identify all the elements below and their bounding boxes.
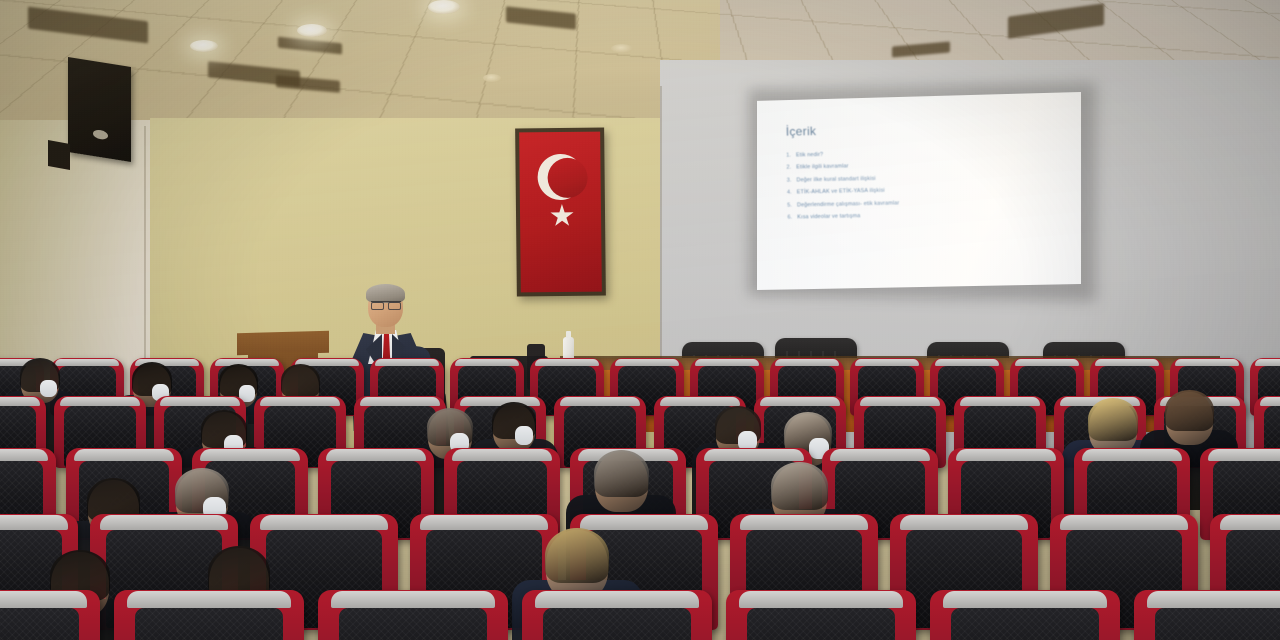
seat-cushion — [339, 608, 487, 640]
auditorium-seat — [1134, 590, 1280, 640]
seat-trim — [760, 397, 839, 406]
conference-hall-photo: İçerik 1.Etik nedir? 2.Etikle ilgili kav… — [0, 0, 1280, 640]
seat-trim — [660, 397, 739, 406]
seat-trim — [100, 515, 227, 530]
seat-trim — [704, 449, 804, 461]
audience-member-hair — [1088, 398, 1138, 441]
slide-item-text: Etik nedir? — [796, 152, 823, 159]
seat-trim — [1255, 359, 1280, 367]
seat-cushion — [135, 608, 283, 640]
seat-trim — [775, 359, 839, 367]
seat-trim — [900, 515, 1027, 530]
slide-item-text: Etikle ilgili kavramlar — [796, 164, 848, 171]
audience-member-hair — [1165, 390, 1214, 431]
slide-title: İçerik — [786, 119, 1080, 139]
seat-trim — [0, 397, 40, 406]
seat-trim — [830, 449, 930, 461]
turkish-flag-frame — [515, 128, 606, 297]
seat-trim — [1260, 397, 1280, 406]
seat-trim — [74, 449, 174, 461]
seat-trim — [420, 515, 547, 530]
ceiling-light-1 — [190, 40, 218, 52]
seat-trim — [740, 515, 867, 530]
slide-item-number: 6. — [787, 215, 792, 221]
auditorium-seat — [930, 590, 1120, 640]
seat-cushion — [951, 608, 1099, 640]
seat-trim — [0, 449, 48, 461]
slide-list-item: 4.ETİK-AHLAK ve ETİK-YASA ilişkisi — [787, 184, 1081, 196]
seat-trim — [956, 449, 1056, 461]
seat-trim — [860, 397, 939, 406]
seat-trim — [1015, 359, 1079, 367]
auditorium-seat — [318, 590, 508, 640]
seat-trim — [695, 359, 759, 367]
seat-cushion — [543, 608, 691, 640]
seat-cushion — [1155, 608, 1280, 640]
seat-trim — [739, 591, 902, 608]
seat-trim — [1208, 449, 1280, 461]
seat-trim — [535, 591, 698, 608]
seat-trim — [560, 397, 639, 406]
seat-trim — [1095, 359, 1159, 367]
seat-trim — [360, 397, 439, 406]
seat-trim — [960, 397, 1039, 406]
slide-item-text: Değer ilke kural standart ilişkisi — [796, 176, 875, 184]
slide-item-number: 3. — [787, 177, 792, 183]
auditorium-seat — [0, 590, 100, 640]
crescent-cutout — [547, 158, 587, 198]
seat-trim — [452, 449, 552, 461]
glasses-icon — [371, 301, 401, 309]
seat-trim — [1147, 591, 1280, 608]
ceiling-light-3 — [428, 0, 460, 14]
seat-trim — [935, 359, 999, 367]
audience-member-hair — [594, 450, 649, 497]
star-icon — [550, 204, 574, 228]
seat-trim — [1175, 359, 1239, 367]
face-mask-icon — [40, 380, 57, 397]
seat-trim — [331, 591, 494, 608]
seat-trim — [1060, 515, 1187, 530]
slide-list-item: 6.Kısa videolar ve tartışma — [787, 209, 1081, 221]
audience-member-hair — [771, 462, 828, 510]
seat-trim — [200, 449, 300, 461]
seat-trim — [127, 591, 290, 608]
auditorium-seat — [114, 590, 304, 640]
seat-trim — [615, 359, 679, 367]
slide-item-number: 1. — [786, 153, 791, 159]
seat-trim — [1220, 515, 1280, 530]
seat-trim — [260, 515, 387, 530]
face-mask-icon — [515, 426, 533, 445]
slide-item-number: 5. — [787, 202, 792, 208]
seat-trim — [0, 515, 68, 530]
slide-list-item: 3.Değer ilke kural standart ilişkisi — [787, 172, 1081, 184]
audience-seating — [0, 352, 1280, 640]
seat-cushion — [0, 608, 79, 640]
seat-trim — [1082, 449, 1182, 461]
seat-trim — [580, 515, 707, 530]
seat-trim — [535, 359, 599, 367]
slide-item-text: Değerlendirme çalışması- etik kavramlar — [797, 200, 899, 208]
speaker-cone-icon — [93, 129, 108, 140]
slide-list-item: 1.Etik nedir? — [786, 147, 1080, 159]
slide-item-text: Kısa videolar ve tartışma — [797, 213, 860, 220]
projection-screen: İçerik 1.Etik nedir? 2.Etikle ilgili kav… — [757, 92, 1081, 290]
seat-trim — [326, 449, 426, 461]
ceiling-light-4 — [611, 44, 633, 53]
slide-item-number: 2. — [786, 165, 791, 171]
seat-trim — [60, 397, 139, 406]
audience-member-hair — [281, 364, 320, 397]
slide-item-number: 4. — [787, 190, 792, 196]
seat-trim — [0, 591, 87, 608]
seat-trim — [943, 591, 1106, 608]
speaker-bracket — [48, 140, 70, 170]
ceiling-light-2 — [297, 24, 327, 37]
auditorium-seat — [522, 590, 712, 640]
audience-member-hair — [545, 528, 609, 583]
turkish-flag-field — [519, 132, 602, 293]
loudspeaker-icon — [68, 57, 131, 162]
slide-content: İçerik 1.Etik nedir? 2.Etikle ilgili kav… — [755, 89, 1083, 293]
seat-cushion — [747, 608, 895, 640]
slide-item-text: ETİK-AHLAK ve ETİK-YASA ilişkisi — [797, 188, 885, 196]
slide-list-item: 2.Etikle ilgili kavramlar — [786, 159, 1080, 171]
seat-trim — [855, 359, 919, 367]
ceiling-light-5 — [483, 74, 501, 82]
seat-trim — [375, 359, 439, 367]
seat-trim — [160, 397, 239, 406]
seat-trim — [455, 359, 519, 367]
slide-agenda-list: 1.Etik nedir? 2.Etikle ilgili kavramlar … — [786, 147, 1081, 221]
seat-trim — [260, 397, 339, 406]
slide-list-item: 5.Değerlendirme çalışması- etik kavramla… — [787, 196, 1081, 208]
auditorium-seat — [726, 590, 916, 640]
